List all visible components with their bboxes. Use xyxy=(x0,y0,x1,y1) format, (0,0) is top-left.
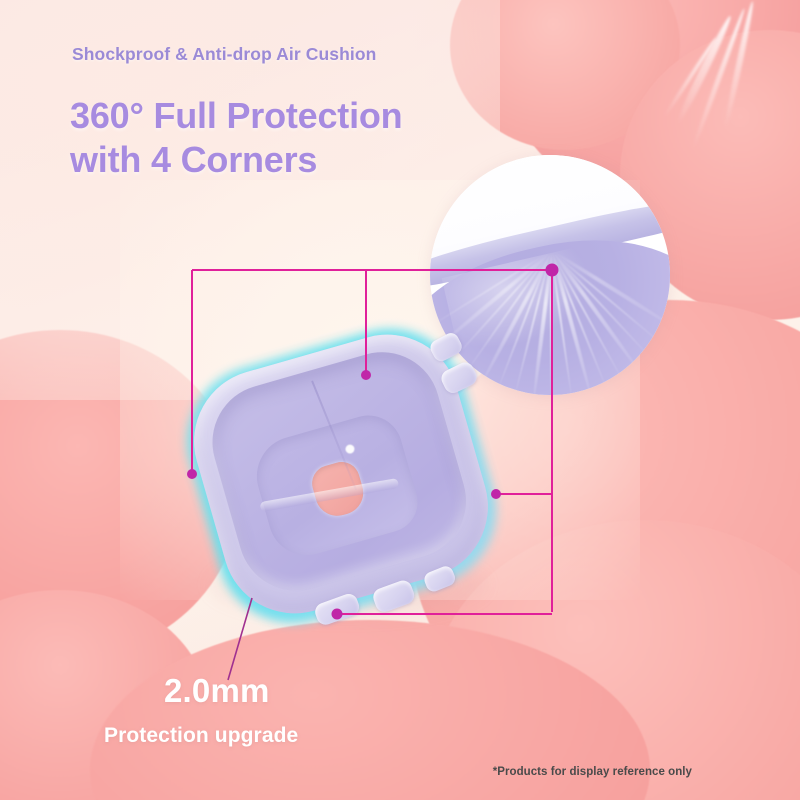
case-hinge-tab-b xyxy=(438,359,479,395)
headline-line-2: with 4 Corners xyxy=(70,138,402,182)
disclaimer-text: *Products for display reference only xyxy=(493,766,692,778)
page-title: 360° Full Protection with 4 Corners xyxy=(70,94,402,182)
headline-line-1: 360° Full Protection xyxy=(70,94,402,138)
product-marketing-image: Shockproof & Anti-drop Air Cushion 360° … xyxy=(0,0,800,800)
product-case xyxy=(178,338,538,638)
case-inner-cavity xyxy=(199,338,480,604)
measurement-value: 2.0mm xyxy=(164,672,270,710)
measurement-caption: Protection upgrade xyxy=(104,724,298,748)
case-clip-a xyxy=(313,591,362,627)
subtitle-text: Shockproof & Anti-drop Air Cushion xyxy=(72,44,376,65)
